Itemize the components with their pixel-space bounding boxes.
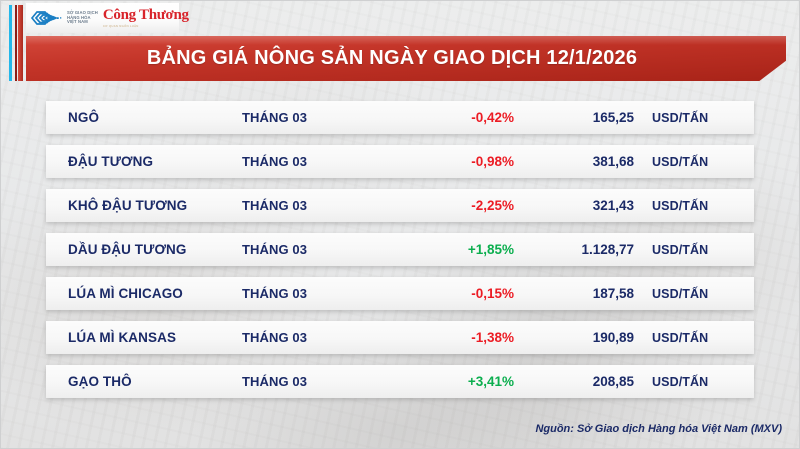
price-unit: USD/TẤN <box>634 243 708 257</box>
mxv-logo-text: SỞ GIAO DỊCH HÀNG HÓA VIỆT NAM <box>67 11 98 24</box>
price-unit: USD/TẤN <box>634 155 708 169</box>
commodity-name: LÚA MÌ CHICAGO <box>46 286 242 301</box>
red-accent-bar <box>18 5 23 81</box>
price-unit: USD/TẤN <box>634 375 708 389</box>
mxv-wave-icon <box>30 8 64 28</box>
price-change: -0,98% <box>390 154 514 169</box>
price-change: -1,38% <box>390 330 514 345</box>
price-change: -0,42% <box>390 110 514 125</box>
table-row: NGÔTHÁNG 03-0,42%165,25USD/TẤN <box>46 101 754 134</box>
commodity-name: ĐẬU TƯƠNG <box>46 154 242 169</box>
cyan-accent-bar <box>9 5 12 81</box>
commodity-name: NGÔ <box>46 110 242 125</box>
price-value: 208,85 <box>514 374 634 389</box>
contract-month: THÁNG 03 <box>242 374 390 389</box>
price-change: +1,85% <box>390 242 514 257</box>
contract-month: THÁNG 03 <box>242 242 390 257</box>
cong-thuong-name: Công Thương <box>103 8 189 23</box>
price-unit: USD/TẤN <box>634 287 708 301</box>
title-banner: BẢNG GIÁ NÔNG SẢN NGÀY GIAO DỊCH 12/1/20… <box>26 36 786 81</box>
mxv-logo-line-3: VIỆT NAM <box>67 19 88 24</box>
price-unit: USD/TẤN <box>634 111 708 125</box>
logo-panel: SỞ GIAO DỊCH HÀNG HÓA VIỆT NAM Công Thươ… <box>26 3 179 33</box>
cong-thuong-subtitle: CƠ QUAN NGÔN LUẬN <box>103 24 139 28</box>
page-title: BẢNG GIÁ NÔNG SẢN NGÀY GIAO DỊCH 12/1/20… <box>147 47 665 70</box>
price-board-page: SỞ GIAO DỊCH HÀNG HÓA VIỆT NAM Công Thươ… <box>0 0 800 449</box>
source-note: Nguồn: Sở Giao dịch Hàng hóa Việt Nam (M… <box>535 423 782 435</box>
contract-month: THÁNG 03 <box>242 154 390 169</box>
table-row: KHÔ ĐẬU TƯƠNGTHÁNG 03-2,25%321,43USD/TẤN <box>46 189 754 222</box>
price-table: NGÔTHÁNG 03-0,42%165,25USD/TẤNĐẬU TƯƠNGT… <box>46 101 754 409</box>
dark-red-accent-bar <box>15 5 17 81</box>
price-unit: USD/TẤN <box>634 199 708 213</box>
price-change: +3,41% <box>390 374 514 389</box>
table-row: LÚA MÌ CHICAGOTHÁNG 03-0,15%187,58USD/TẤ… <box>46 277 754 310</box>
price-value: 321,43 <box>514 198 634 213</box>
contract-month: THÁNG 03 <box>242 198 390 213</box>
table-row: GẠO THÔTHÁNG 03+3,41%208,85USD/TẤN <box>46 365 754 398</box>
price-change: -2,25% <box>390 198 514 213</box>
price-value: 187,58 <box>514 286 634 301</box>
contract-month: THÁNG 03 <box>242 110 390 125</box>
left-accent-bars <box>9 5 25 81</box>
table-row: LÚA MÌ KANSASTHÁNG 03-1,38%190,89USD/TẤN <box>46 321 754 354</box>
table-row: DẦU ĐẬU TƯƠNGTHÁNG 03+1,85%1.128,77USD/T… <box>46 233 754 266</box>
contract-month: THÁNG 03 <box>242 286 390 301</box>
cong-thuong-logo: Công Thương CƠ QUAN NGÔN LUẬN <box>103 8 189 28</box>
table-row: ĐẬU TƯƠNGTHÁNG 03-0,98%381,68USD/TẤN <box>46 145 754 178</box>
commodity-name: LÚA MÌ KANSAS <box>46 330 242 345</box>
commodity-name: GẠO THÔ <box>46 374 242 389</box>
price-value: 190,89 <box>514 330 634 345</box>
commodity-name: DẦU ĐẬU TƯƠNG <box>46 242 242 257</box>
commodity-name: KHÔ ĐẬU TƯƠNG <box>46 198 242 213</box>
price-value: 165,25 <box>514 110 634 125</box>
price-value: 381,68 <box>514 154 634 169</box>
contract-month: THÁNG 03 <box>242 330 390 345</box>
price-unit: USD/TẤN <box>634 331 708 345</box>
price-change: -0,15% <box>390 286 514 301</box>
price-value: 1.128,77 <box>514 242 634 257</box>
